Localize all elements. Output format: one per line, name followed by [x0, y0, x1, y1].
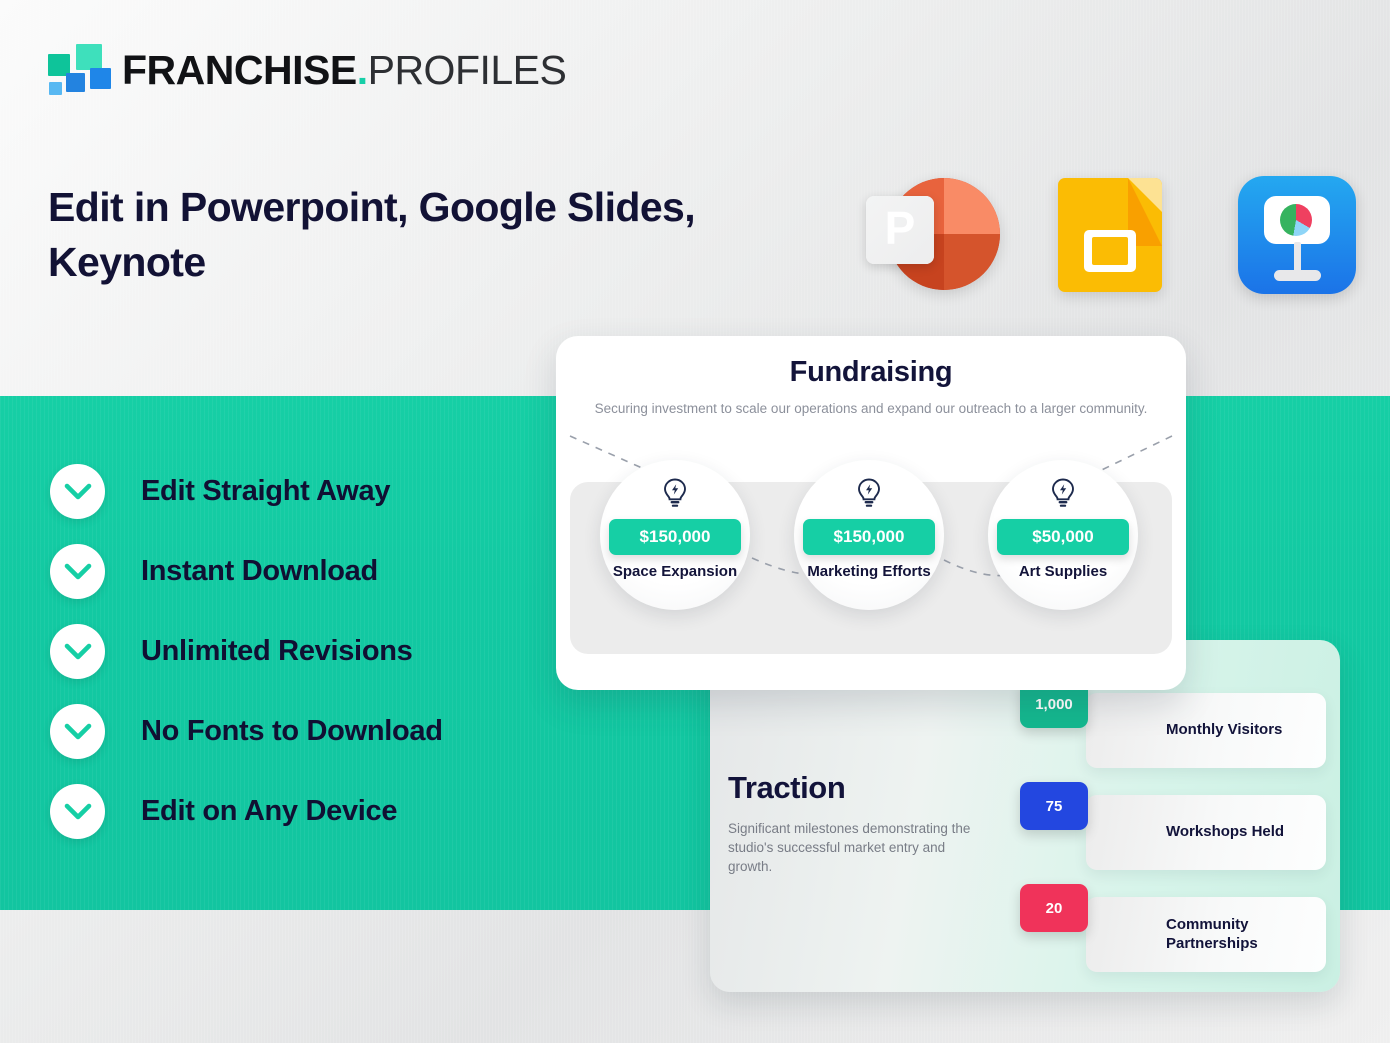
traction-row: Community Partnerships 20 — [1052, 884, 1326, 985]
traction-bar: Monthly Visitors — [1086, 693, 1326, 768]
traction-bar: Community Partnerships — [1086, 897, 1326, 972]
powerpoint-letter-tile: P — [866, 196, 934, 264]
chevron-down-icon — [50, 624, 105, 679]
feature-label: Unlimited Revisions — [141, 635, 412, 668]
feature-list: Edit Straight Away Instant Download Unli… — [50, 464, 443, 839]
fundraising-subtitle: Securing investment to scale our operati… — [556, 399, 1186, 418]
fundraising-amount: $50,000 — [997, 519, 1129, 555]
powerpoint-letter: P — [885, 205, 916, 251]
logo-squares-icon — [48, 44, 108, 96]
traction-badge-value: 20 — [1046, 900, 1063, 917]
traction-bar: Workshops Held — [1086, 795, 1326, 870]
chevron-down-icon — [50, 704, 105, 759]
chevron-down-icon — [50, 544, 105, 599]
traction-subtitle: Significant milestones demonstrating the… — [728, 820, 986, 877]
chevron-down-icon — [50, 464, 105, 519]
powerpoint-icon: P — [866, 172, 990, 296]
traction-title: Traction — [728, 770, 845, 806]
brand-name-bold: FRANCHISE — [122, 47, 357, 93]
fundraising-item-art-supplies: $50,000 Art Supplies — [988, 460, 1138, 610]
fundraising-items: $150,000 Space Expansion $150,000 Market… — [556, 460, 1186, 640]
google-slides-doc — [1058, 178, 1162, 292]
brand-name-light: PROFILES — [368, 47, 567, 93]
fundraising-amount: $150,000 — [609, 519, 741, 555]
fundraising-item-marketing-efforts: $150,000 Marketing Efforts — [794, 460, 944, 610]
feature-label: Instant Download — [141, 555, 378, 588]
brand-logo: FRANCHISE.PROFILES — [48, 44, 566, 96]
keynote-icon — [1230, 172, 1354, 296]
brand-dot: . — [357, 47, 368, 93]
traction-row-label: Workshops Held — [1166, 823, 1284, 841]
traction-row: Monthly Visitors 1,000 — [1052, 680, 1326, 781]
fundraising-title: Fundraising — [556, 356, 1186, 389]
supported-apps-row: P — [866, 172, 1354, 296]
feature-label: No Fonts to Download — [141, 715, 443, 748]
chevron-down-icon — [50, 784, 105, 839]
feature-label: Edit on Any Device — [141, 795, 397, 828]
feature-label: Edit Straight Away — [141, 475, 390, 508]
fundraising-item-space-expansion: $150,000 Space Expansion — [600, 460, 750, 610]
fundraising-item-name: Marketing Efforts — [807, 563, 930, 581]
fundraising-amount: $150,000 — [803, 519, 935, 555]
keynote-tile — [1238, 176, 1356, 294]
feature-item-no-fonts-to-download[interactable]: No Fonts to Download — [50, 704, 443, 759]
traction-badge: 20 — [1020, 884, 1088, 932]
brand-wordmark: FRANCHISE.PROFILES — [122, 50, 566, 91]
feature-item-unlimited-revisions[interactable]: Unlimited Revisions — [50, 624, 443, 679]
traction-row-label: Community Partnerships — [1166, 916, 1326, 953]
fundraising-card: Fundraising Securing investment to scale… — [556, 336, 1186, 690]
feature-item-edit-straight-away[interactable]: Edit Straight Away — [50, 464, 443, 519]
feature-item-instant-download[interactable]: Instant Download — [50, 544, 443, 599]
traction-row-label: Monthly Visitors — [1166, 721, 1282, 739]
fundraising-item-name: Space Expansion — [613, 563, 737, 581]
traction-card: Traction Significant milestones demonstr… — [710, 640, 1340, 992]
google-slides-icon — [1048, 172, 1172, 296]
traction-row: Workshops Held 75 — [1052, 782, 1326, 883]
page-headline: Edit in Powerpoint, Google Slides, Keyno… — [48, 180, 728, 291]
lightbulb-icon — [856, 477, 882, 514]
traction-badge: 75 — [1020, 782, 1088, 830]
feature-item-edit-on-any-device[interactable]: Edit on Any Device — [50, 784, 443, 839]
lightbulb-icon — [662, 477, 688, 514]
fundraising-item-name: Art Supplies — [1019, 563, 1107, 581]
slide-canvas: FRANCHISE.PROFILES Edit in Powerpoint, G… — [0, 0, 1390, 1043]
lightbulb-icon — [1050, 477, 1076, 514]
traction-rows: Monthly Visitors 1,000 Workshops Held 75… — [1052, 680, 1326, 986]
traction-badge-value: 75 — [1046, 798, 1063, 815]
traction-badge-value: 1,000 — [1035, 696, 1073, 713]
